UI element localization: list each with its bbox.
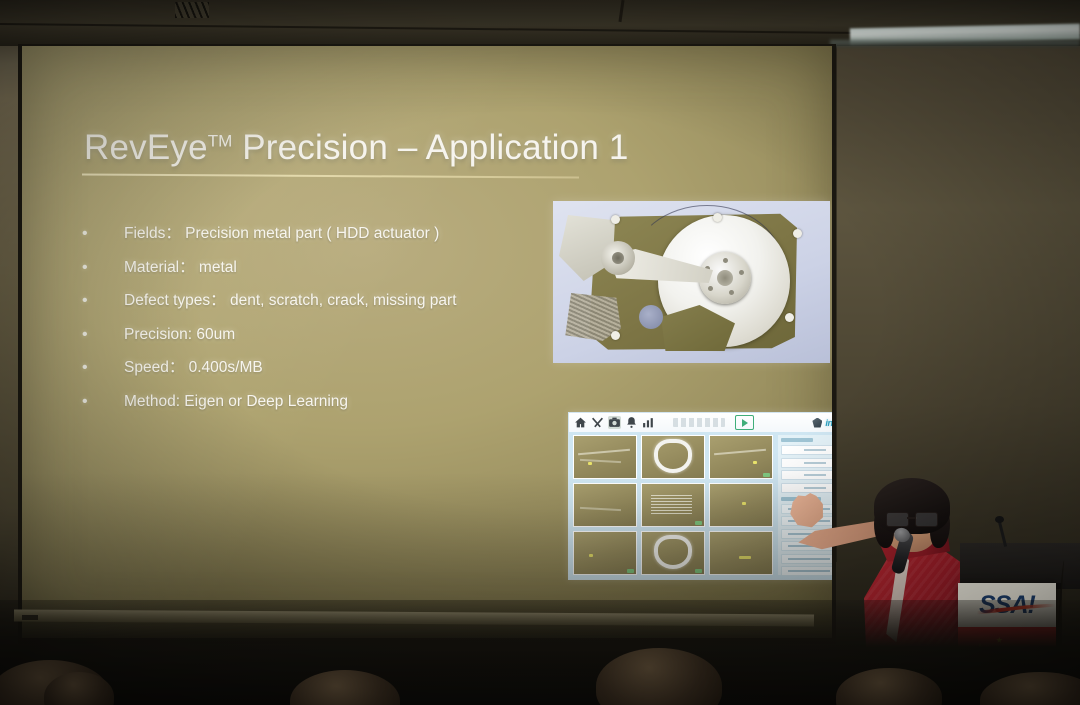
grid-cell[interactable] — [573, 531, 637, 575]
chart-icon[interactable] — [642, 416, 655, 429]
bullet-marker-icon: • — [82, 291, 98, 311]
grid-cell[interactable] — [709, 531, 773, 575]
list-item: • Fields： Precision metal part ( HDD act… — [82, 224, 602, 244]
pattern-region — [651, 495, 692, 514]
alert-bell-icon[interactable] — [625, 416, 638, 429]
grid-cell[interactable] — [641, 483, 705, 527]
bullet-text: Defect types： dent, scratch, crack, miss… — [124, 291, 457, 311]
grid-cell[interactable] — [709, 483, 773, 527]
bullet-text: Speed： 0.400s/MB — [124, 358, 263, 378]
sidebar-field[interactable] — [781, 470, 832, 480]
bullet-marker-icon: • — [82, 258, 98, 278]
list-item: • Material： metal — [82, 258, 602, 278]
detected-part-outline — [654, 439, 692, 473]
hdd-screw — [793, 229, 802, 238]
bullet-marker-icon: • — [82, 358, 98, 378]
slide-title: RevEyeTM Precision – Application 1 — [84, 128, 629, 168]
software-toolbar: innovv — [569, 413, 832, 432]
ceiling-light-shadow — [830, 40, 1080, 47]
run-button[interactable] — [735, 415, 754, 430]
bullet-marker-icon: • — [82, 224, 98, 244]
hdd-screw — [611, 331, 620, 340]
trademark-symbol: TM — [208, 131, 233, 150]
hdd-photo — [553, 201, 830, 363]
glasses-icon — [886, 512, 938, 525]
home-icon[interactable] — [574, 416, 587, 429]
hdd-screw — [785, 313, 794, 322]
hdd-actuator-pivot — [601, 241, 635, 275]
projection-screen: RevEyeTM Precision – Application 1 • Fie… — [22, 46, 832, 638]
slide-title-rest: Precision – Application 1 — [232, 128, 628, 167]
presenter-hair — [874, 478, 950, 534]
camera-icon[interactable] — [608, 416, 621, 429]
play-icon — [742, 419, 748, 427]
tools-icon[interactable] — [591, 416, 604, 429]
gooseneck-microphone-head — [995, 516, 1004, 523]
bullet-text: Method: Eigen or Deep Learning — [124, 392, 348, 412]
list-item: • Precision: 60um — [82, 325, 602, 345]
inspection-image-grid[interactable] — [573, 435, 773, 575]
logo-text: innovv — [825, 418, 832, 428]
slide-bullet-list: • Fields： Precision metal part ( HDD act… — [82, 224, 602, 425]
bullet-text: Fields： Precision metal part ( HDD actua… — [124, 224, 439, 244]
list-item: • Speed： 0.400s/MB — [82, 358, 602, 378]
hdd-filter-port — [639, 305, 663, 329]
sidebar-field[interactable] — [781, 445, 832, 455]
bullet-marker-icon: • — [82, 325, 98, 345]
ceiling-vent-icon — [175, 2, 209, 18]
bullet-text: Material： metal — [124, 258, 237, 278]
grid-cell[interactable] — [709, 435, 773, 479]
detected-part-outline — [654, 535, 692, 569]
list-item: • Defect types： dent, scratch, crack, mi… — [82, 291, 602, 311]
app-logo: innovv — [812, 418, 832, 428]
grid-cell[interactable] — [641, 435, 705, 479]
logo-mark-icon — [812, 418, 822, 428]
search-input[interactable] — [673, 418, 725, 427]
list-item: • Method: Eigen or Deep Learning — [82, 392, 602, 412]
grid-cell[interactable] — [641, 531, 705, 575]
grid-cell[interactable] — [573, 435, 637, 479]
hdd-screw — [611, 215, 620, 224]
grid-cell[interactable] — [573, 483, 637, 527]
sidebar-field[interactable] — [781, 458, 832, 468]
bullet-text: Precision: 60um — [124, 325, 235, 345]
slide-title-main: RevEye — [84, 128, 208, 167]
sidebar-section-title — [781, 438, 813, 442]
hdd-screw — [713, 213, 722, 222]
bullet-marker-icon: • — [82, 392, 98, 412]
presenter-hand — [787, 491, 827, 531]
title-underline — [82, 173, 579, 178]
presentation-photo: RevEyeTM Precision – Application 1 • Fie… — [0, 0, 1080, 705]
